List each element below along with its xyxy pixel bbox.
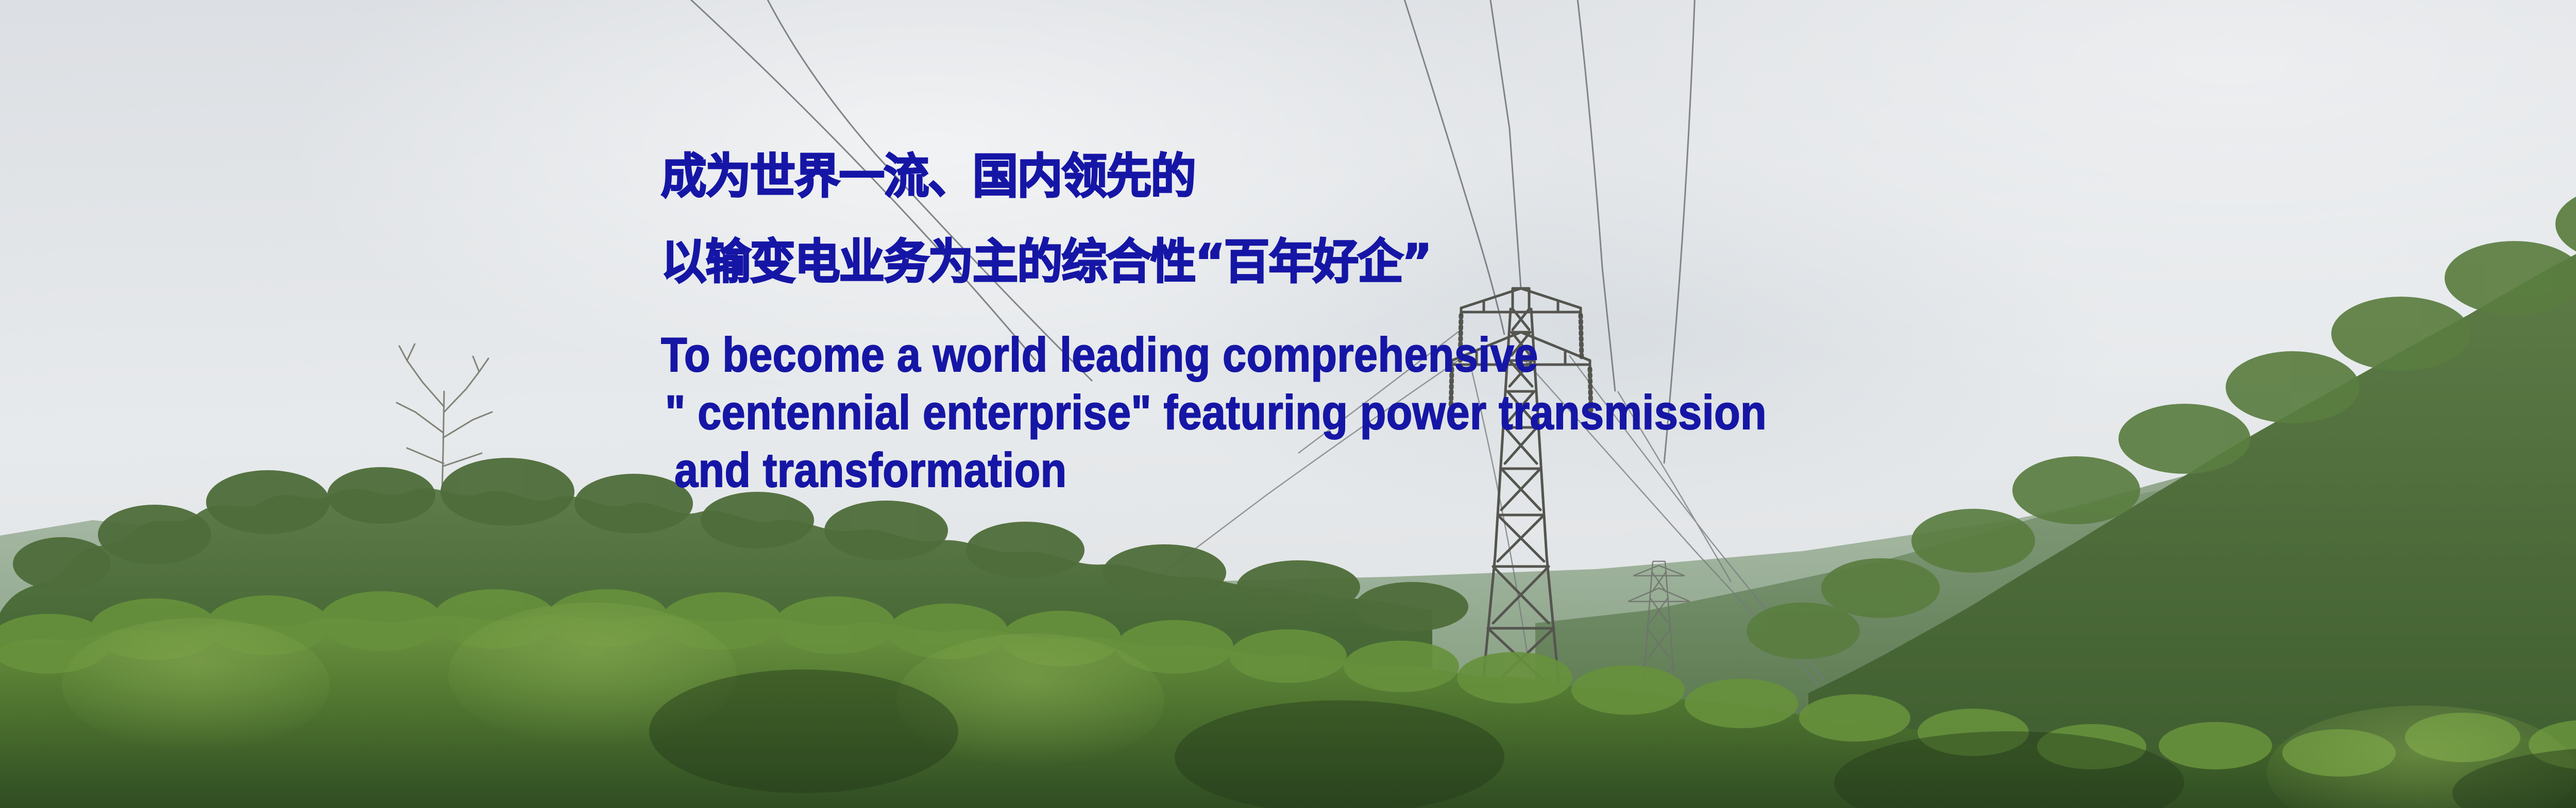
vision-english-line-3: and transformation bbox=[674, 444, 2431, 496]
vision-statement: 成为世界一流、国内领先的 以输变电业务为主的综合性“百年好企” To becom… bbox=[661, 154, 2576, 496]
vision-chinese-line-2: 以输变电业务为主的综合性“百年好企” bbox=[661, 240, 2576, 284]
vision-chinese-line-1: 成为世界一流、国内领先的 bbox=[661, 154, 2576, 199]
vision-english-line-2: " centennial enterprise" featuring power… bbox=[665, 386, 2430, 439]
vision-english-block: To become a world leading comprehensive … bbox=[661, 329, 2576, 496]
vision-banner: 成为世界一流、国内领先的 以输变电业务为主的综合性“百年好企” To becom… bbox=[0, 0, 2576, 808]
vision-english-line-1: To become a world leading comprehensive bbox=[661, 329, 2429, 381]
